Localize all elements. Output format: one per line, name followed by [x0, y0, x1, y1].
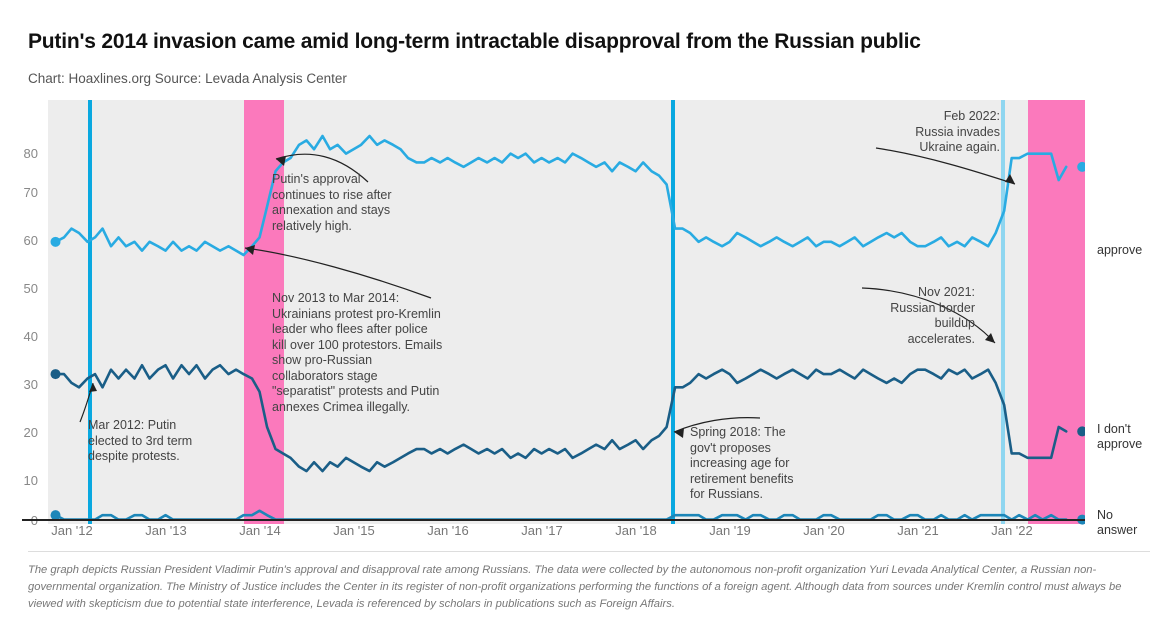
- chart-container: 80 70 60 50 40 30 20 10 0: [0, 95, 1175, 540]
- annotation-approval-rise: Putin's approval continues to rise after…: [272, 172, 432, 234]
- annotation-line: Nov 2013 to Mar 2014:: [272, 291, 462, 307]
- footer-note: The graph depicts Russian President Vlad…: [28, 562, 1150, 613]
- annotation-line: Ukrainians protest pro-Kremlin: [272, 307, 462, 323]
- legend-label-line: I don't: [1097, 422, 1142, 437]
- legend-label-line: answer: [1097, 523, 1137, 538]
- annotation-line: leader who flees after police: [272, 322, 462, 338]
- chart-source-subtitle: Chart: Hoaxlines.org Source: Levada Anal…: [28, 71, 1028, 86]
- page-title: Putin's 2014 invasion came amid long-ter…: [28, 30, 1128, 54]
- x-tick-jan-21: Jan '21: [873, 523, 963, 538]
- annotation-line: gov't proposes: [690, 441, 840, 457]
- legend-label-line: approve: [1097, 437, 1142, 452]
- y-tick-70: 70: [4, 185, 38, 200]
- y-tick-10: 10: [4, 473, 38, 488]
- annotation-line: continues to rise after: [272, 188, 432, 204]
- x-axis-line: [22, 519, 1085, 521]
- x-tick-jan-20: Jan '20: [779, 523, 869, 538]
- footer-divider: [28, 551, 1150, 552]
- x-tick-jan-14: Jan '14: [215, 523, 305, 538]
- legend-label-noanswer: No answer: [1097, 508, 1137, 538]
- annotation-line: annexes Crimea illegally.: [272, 400, 462, 416]
- annotation-line: increasing age for: [690, 456, 840, 472]
- annotation-line: accelerates.: [845, 332, 975, 348]
- legend-label-approve: approve: [1097, 243, 1142, 258]
- legend-label-disapprove: I don't approve: [1097, 422, 1142, 452]
- y-tick-40: 40: [4, 329, 38, 344]
- y-tick-20: 20: [4, 425, 38, 440]
- x-tick-jan-22: Jan '22: [967, 523, 1057, 538]
- legend-label-line: No: [1097, 508, 1137, 523]
- annotation-feb-2022: Feb 2022: Russia invades Ukraine again.: [880, 109, 1000, 156]
- annotation-line: relatively high.: [272, 219, 432, 235]
- annotation-line: Nov 2021:: [845, 285, 975, 301]
- x-tick-jan-13: Jan '13: [121, 523, 211, 538]
- x-tick-jan-17: Jan '17: [497, 523, 587, 538]
- annotation-line: Spring 2018: The: [690, 425, 840, 441]
- y-tick-80: 80: [4, 146, 38, 161]
- x-tick-jan-18: Jan '18: [591, 523, 681, 538]
- annotation-line: show pro-Russian: [272, 353, 462, 369]
- series-start-dot: [51, 369, 61, 379]
- x-tick-jan-19: Jan '19: [685, 523, 775, 538]
- annotation-line: for Russians.: [690, 487, 840, 503]
- annotation-spring-2018: Spring 2018: The gov't proposes increasi…: [690, 425, 840, 503]
- annotation-crimea: Nov 2013 to Mar 2014: Ukrainians protest…: [272, 291, 462, 415]
- annotation-line: retirement benefits: [690, 472, 840, 488]
- annotation-line: Putin's approval: [272, 172, 432, 188]
- annotation-line: "separatist" protests and Putin: [272, 384, 462, 400]
- y-tick-50: 50: [4, 281, 38, 296]
- annotation-line: despite protests.: [88, 449, 223, 465]
- x-tick-jan-12: Jan '12: [27, 523, 117, 538]
- pink-band-invasion: [1028, 100, 1085, 524]
- annotation-line: Feb 2022:: [880, 109, 1000, 125]
- annotation-line: buildup: [845, 316, 975, 332]
- x-tick-jan-15: Jan '15: [309, 523, 399, 538]
- annotation-line: Russian border: [845, 301, 975, 317]
- annotation-line: Ukraine again.: [880, 140, 1000, 156]
- annotation-line: annexation and stays: [272, 203, 432, 219]
- annotation-nov-2021: Nov 2021: Russian border buildup acceler…: [845, 285, 975, 347]
- annotation-line: elected to 3rd term: [88, 434, 223, 450]
- annotation-line: kill over 100 protestors. Emails: [272, 338, 462, 354]
- annotation-mar-2012: Mar 2012: Putin elected to 3rd term desp…: [88, 418, 223, 465]
- annotation-line: Mar 2012: Putin: [88, 418, 223, 434]
- annotation-line: Russia invades: [880, 125, 1000, 141]
- series-start-dot: [51, 237, 61, 247]
- y-tick-60: 60: [4, 233, 38, 248]
- annotation-line: collaborators stage: [272, 369, 462, 385]
- x-tick-jan-16: Jan '16: [403, 523, 493, 538]
- y-tick-30: 30: [4, 377, 38, 392]
